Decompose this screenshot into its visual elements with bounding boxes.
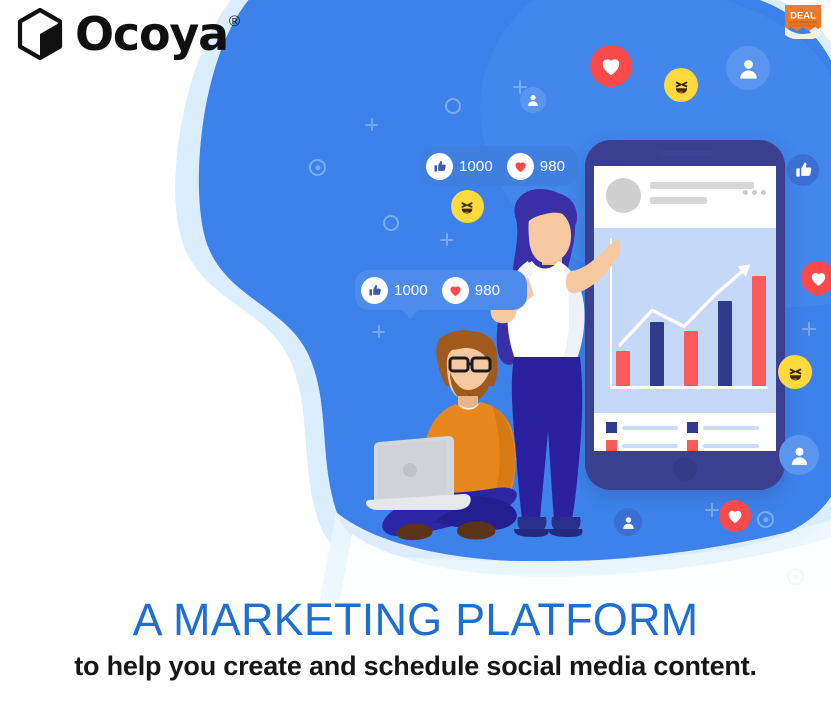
heart-icon <box>507 153 534 180</box>
plus-mark-icon <box>705 503 719 517</box>
thumbs-up-icon <box>426 153 453 180</box>
person-icon <box>520 87 546 113</box>
legend-row <box>606 440 768 451</box>
phone-speaker <box>657 151 713 156</box>
ring-mark-icon <box>383 215 399 231</box>
post-title-placeholder <box>650 182 754 189</box>
reaction-thumbs-up: 1000 <box>426 153 493 180</box>
ring-mark-icon <box>757 511 774 528</box>
reaction-heart: 980 <box>442 277 500 304</box>
person-icon <box>779 435 819 475</box>
reaction-pill-top[interactable]: 1000 980 <box>420 146 578 186</box>
person-icon <box>614 508 642 536</box>
laugh-icon <box>778 355 812 389</box>
plus-mark-icon <box>365 118 378 131</box>
deal-badge-label: DEAL <box>790 11 816 22</box>
thumbs-up-count: 1000 <box>459 158 493 175</box>
registered-mark: ® <box>229 13 240 30</box>
legend-swatch <box>687 422 698 433</box>
page-title: A MARKETING PLATFORM <box>0 596 831 643</box>
post-header <box>594 166 776 228</box>
post-subtitle-placeholder <box>650 197 707 204</box>
chart-legend <box>606 422 768 451</box>
ring-mark-icon <box>787 568 804 585</box>
reaction-thumbs-up: 1000 <box>361 277 428 304</box>
man-with-laptop-illustration <box>352 320 552 545</box>
ring-mark-icon <box>309 159 326 176</box>
plus-mark-icon <box>440 233 453 246</box>
legend-label-placeholder <box>622 426 678 430</box>
legend-label-placeholder <box>703 444 759 448</box>
thumbs-up-icon <box>361 277 388 304</box>
legend-entry <box>687 422 768 433</box>
person-icon <box>726 46 770 90</box>
brand-name: Ocoya <box>75 11 228 57</box>
heart-icon <box>442 277 469 304</box>
deal-badge[interactable]: DEAL <box>781 5 825 39</box>
analytics-chart <box>594 228 776 413</box>
heart-count: 980 <box>475 282 500 299</box>
reaction-pill-bottom[interactable]: 1000 980 <box>355 270 527 310</box>
thumbs-up-count: 1000 <box>394 282 428 299</box>
headline-block: A MARKETING PLATFORM to help you create … <box>0 596 831 684</box>
legend-row <box>606 422 768 433</box>
laugh-icon <box>451 190 484 223</box>
chart-trend-line <box>606 234 768 405</box>
reaction-heart: 980 <box>507 153 565 180</box>
thumbs-up-icon <box>787 154 819 186</box>
heart-icon <box>590 45 632 87</box>
brand-logo[interactable]: Ocoya ® <box>14 6 240 62</box>
heart-icon <box>719 500 751 532</box>
legend-label-placeholder <box>703 426 759 430</box>
heart-count: 980 <box>540 158 565 175</box>
pill-pointer <box>401 309 419 319</box>
page-subtitle: to help you create and schedule social m… <box>0 650 831 684</box>
phone-home-button[interactable] <box>673 457 697 481</box>
plus-mark-icon <box>802 322 816 336</box>
more-options-icon[interactable] <box>743 190 766 195</box>
phone-screen <box>594 166 776 451</box>
ring-mark-icon <box>445 98 461 114</box>
poster-canvas: 1000 980 1000 980 <box>0 0 831 711</box>
cube-icon <box>14 6 66 62</box>
legend-label-placeholder <box>622 444 678 448</box>
laugh-icon <box>664 68 698 102</box>
heart-icon <box>801 261 831 295</box>
legend-swatch <box>687 440 698 451</box>
legend-entry <box>687 440 768 451</box>
